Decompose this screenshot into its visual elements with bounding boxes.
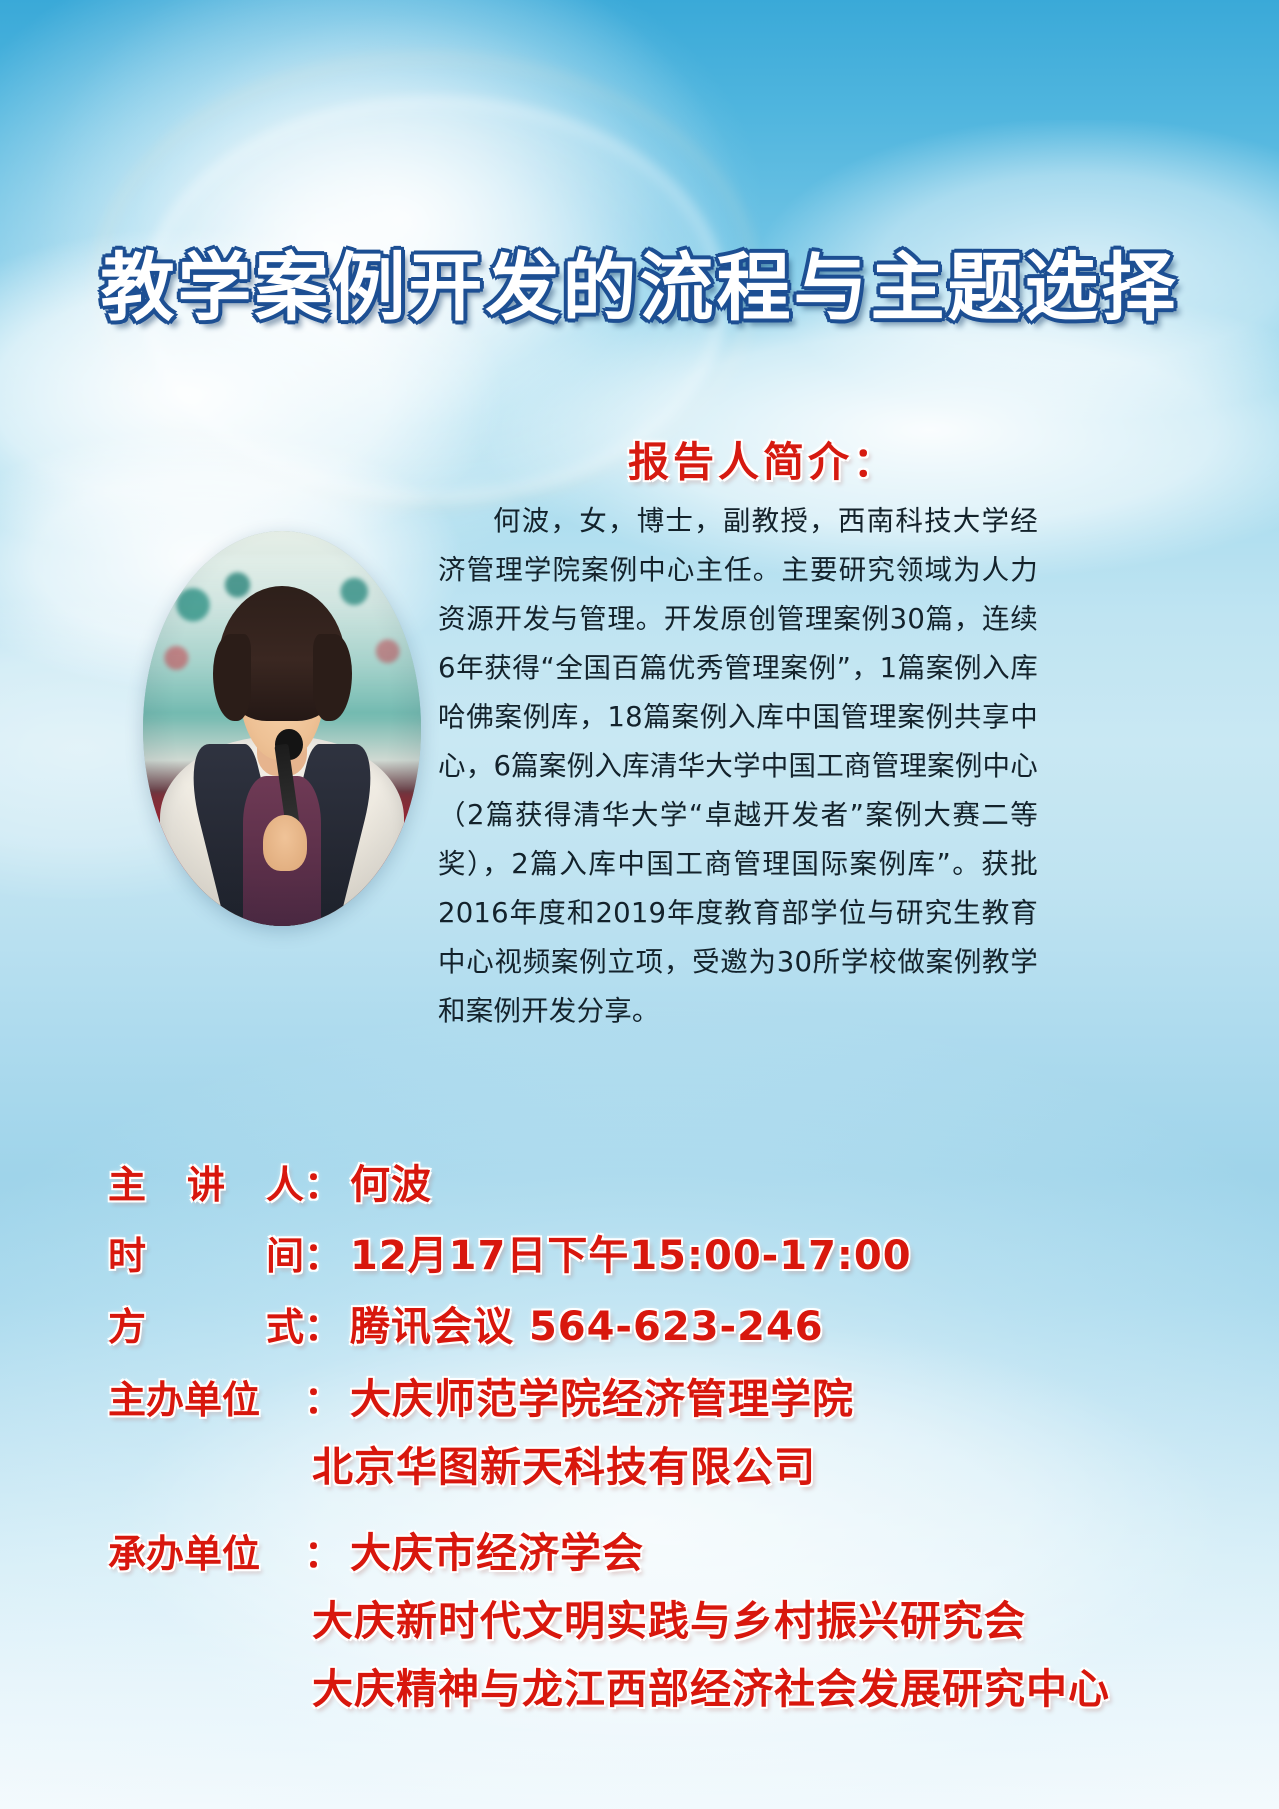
time-colon: ：: [304, 1225, 342, 1280]
portrait-vignette: [143, 531, 421, 926]
speaker-label-char: 主: [108, 1154, 146, 1209]
method-label: 方 式: [108, 1296, 304, 1351]
detail-row-organizer-second: 大庆新时代文明实践与乡村振兴研究会: [108, 1587, 1208, 1647]
organizer-value: 大庆市经济学会: [350, 1519, 644, 1579]
detail-row-host-second: 北京华图新天科技有限公司: [108, 1433, 1208, 1493]
detail-row-organizer-third: 大庆精神与龙江西部经济社会发展研究中心: [108, 1655, 1208, 1715]
host-label: 主办单位: [108, 1369, 304, 1424]
method-label-char: 方: [108, 1296, 146, 1351]
time-label-char: 时: [108, 1225, 146, 1280]
organizer-value: 大庆精神与龙江西部经济社会发展研究中心: [312, 1655, 1110, 1715]
organizer-colon: ：: [304, 1523, 342, 1578]
organizer-label: 承办单位: [108, 1523, 304, 1578]
detail-row-method: 方 式 ： 腾讯会议 564-623-246: [108, 1294, 1208, 1352]
speaker-colon: ：: [304, 1154, 342, 1209]
speaker-name-value: 何波: [350, 1152, 432, 1210]
meeting-id-value: 腾讯会议 564-623-246: [350, 1294, 824, 1352]
time-value: 12月17日下午15:00-17:00: [350, 1223, 912, 1281]
method-label-char: 式: [266, 1296, 304, 1351]
time-label-char: 间: [266, 1225, 304, 1280]
time-label: 时 间: [108, 1225, 304, 1280]
speaker-bio-heading: 报告人简介：: [628, 428, 898, 488]
method-colon: ：: [304, 1296, 342, 1351]
row-spacer: [108, 1501, 1208, 1519]
speaker-bio-text: 何波，女，博士，副教授，西南科技大学经济管理学院案例中心主任。主要研究领域为人力…: [438, 497, 1038, 1036]
organizer-value: 大庆新时代文明实践与乡村振兴研究会: [312, 1587, 1026, 1647]
poster-title: 教学案例开发的流程与主题选择: [0, 228, 1279, 335]
poster-canvas: 教学案例开发的流程与主题选择 报告人简介： 何波，女，博士，副教授，西南科技大学…: [0, 0, 1279, 1809]
detail-row-speaker: 主 讲 人 ： 何波: [108, 1152, 1208, 1210]
host-colon: ：: [304, 1369, 342, 1424]
speaker-label: 主 讲 人: [108, 1154, 304, 1209]
detail-row-time: 时 间 ： 12月17日下午15:00-17:00: [108, 1223, 1208, 1281]
host-value: 大庆师范学院经济管理学院: [350, 1365, 854, 1425]
speaker-label-char: 人: [266, 1154, 304, 1209]
detail-row-host: 主办单位 ： 大庆师范学院经济管理学院: [108, 1365, 1208, 1425]
detail-row-organizer: 承办单位 ： 大庆市经济学会: [108, 1519, 1208, 1579]
speaker-label-char: 讲: [187, 1154, 225, 1209]
host-value: 北京华图新天科技有限公司: [312, 1433, 816, 1493]
speaker-portrait-photo: [143, 531, 421, 926]
event-details-block: 主 讲 人 ： 何波 时 间 ： 12月17日下午15:00-17:00 方 式…: [108, 1152, 1208, 1723]
